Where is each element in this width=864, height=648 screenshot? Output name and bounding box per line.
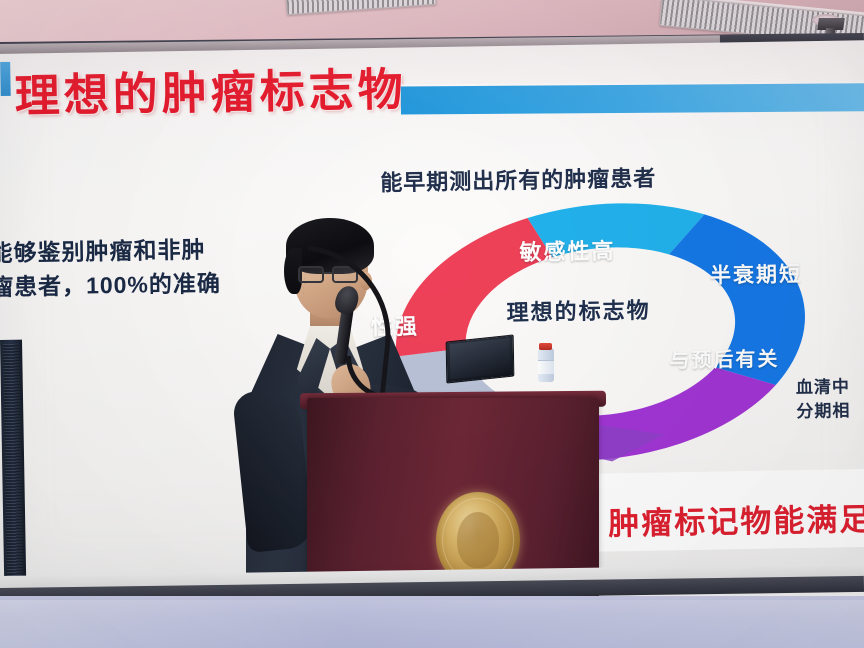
caption-left-line1: 能够鉴别肿瘤和非肿: [0, 236, 206, 266]
photo-scene: 理想的肿瘤标志物 能早期测出所有的肿瘤患者 能够鉴别肿瘤和非肿 瘤患者，100%…: [0, 0, 864, 648]
speaker-grill: [3, 344, 24, 610]
caption-left-line2: 瘤患者，100%的准确: [0, 270, 221, 300]
laptop: [446, 334, 515, 383]
title-accent-bar: [0, 62, 11, 96]
floor-reflection: [0, 600, 864, 648]
caption-left: 能够鉴别肿瘤和非肿 瘤患者，100%的准确: [0, 232, 221, 304]
label-center: 理想的标志物: [506, 293, 651, 328]
slide-title: 理想的肿瘤标志物: [14, 53, 407, 125]
bottom-red-text: 肿瘤标记物能满足所: [608, 493, 864, 543]
label-half-life: 半衰期短: [710, 258, 803, 290]
caption-right-line1: 血清中: [796, 377, 850, 397]
caption-top: 能早期测出所有的肿瘤患者: [380, 161, 657, 198]
label-prognosis: 与预后有关: [669, 342, 779, 373]
label-sensitivity: 敏感性高: [519, 233, 616, 267]
title-banner-bar: [401, 83, 864, 114]
water-bottle-cap: [539, 343, 552, 350]
caption-right: 血清中 分期相: [796, 375, 851, 424]
caption-right-line2: 分期相: [796, 401, 850, 421]
water-bottle-label: [538, 360, 554, 374]
